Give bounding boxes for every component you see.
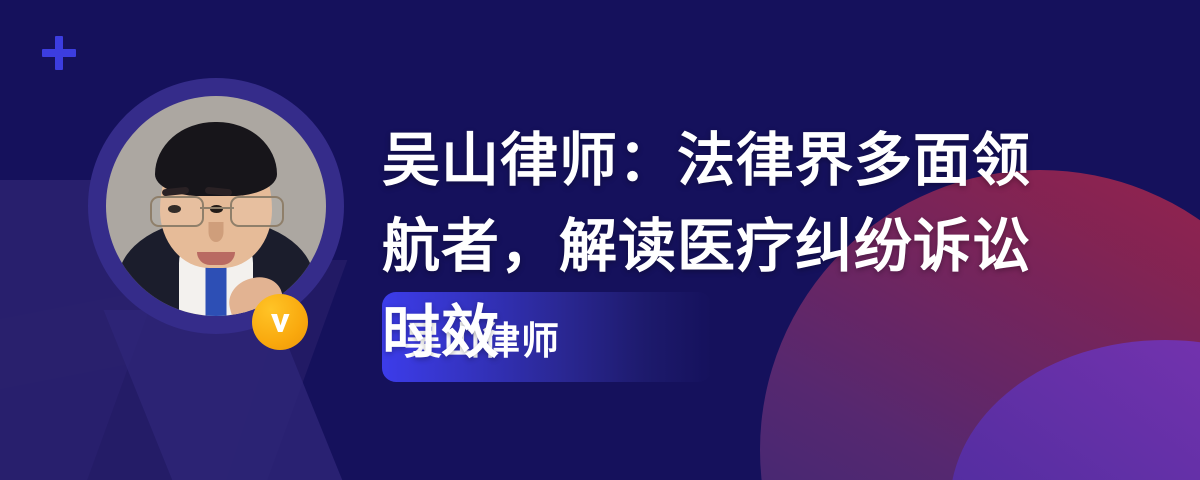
portrait-hair bbox=[155, 122, 277, 196]
profile-banner: 吴山律师 吴山律师：法律界多面领 航者，解读医疗纠纷诉讼 时效 bbox=[0, 0, 1200, 480]
glasses-lens-left bbox=[150, 196, 204, 227]
portrait-tie bbox=[206, 260, 227, 316]
glasses-lens-right bbox=[230, 196, 284, 227]
glasses-icon bbox=[150, 196, 284, 224]
plus-icon bbox=[42, 36, 76, 70]
verified-v-icon bbox=[252, 294, 308, 350]
page-title: 吴山律师：法律界多面领 航者，解读医疗纠纷诉讼 时效 bbox=[382, 118, 1182, 376]
avatar-photo bbox=[106, 96, 326, 316]
glasses-bridge bbox=[200, 207, 234, 209]
portrait-nose bbox=[209, 222, 224, 242]
avatar bbox=[88, 78, 344, 334]
